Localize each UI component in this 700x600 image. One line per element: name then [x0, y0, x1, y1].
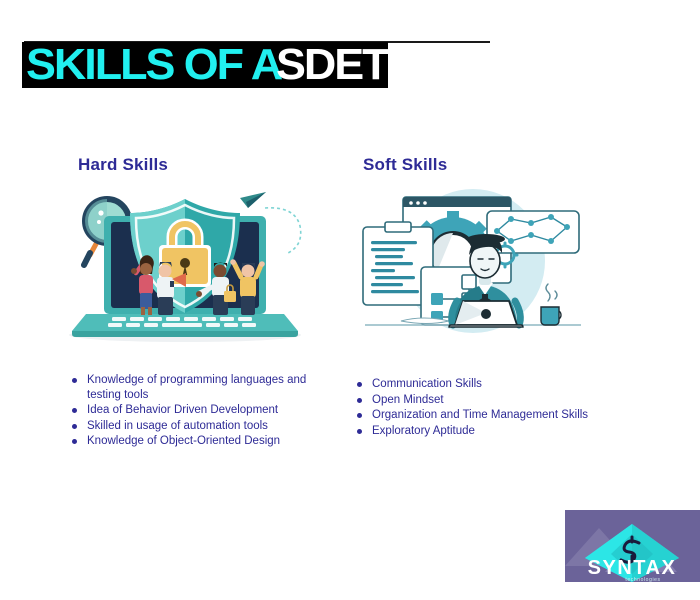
bullet-dot-icon: [357, 429, 362, 434]
list-item: Organization and Time Management Skills: [354, 408, 614, 423]
paper-plane-icon: [240, 192, 266, 208]
list-item: Skilled in usage of automation tools: [69, 419, 329, 434]
list-item-label: Organization and Time Management Skills: [372, 409, 588, 421]
soft-skills-list: Communication Skills Open Mindset Organi…: [354, 377, 614, 439]
list-item: Knowledge of programming languages and t…: [69, 373, 329, 402]
list-item: Knowledge of Object-Oriented Design: [69, 434, 329, 449]
page-title-banner: SKILLS OF A SDET: [22, 42, 388, 88]
laptop-shield-lock-illustration: [60, 183, 310, 343]
list-item-label: Communication Skills: [372, 378, 482, 390]
logo-tagline: technologies: [625, 577, 660, 582]
bullet-dot-icon: [357, 398, 362, 403]
bullet-dot-icon: [357, 413, 362, 418]
coffee-cup-icon: [541, 284, 561, 325]
list-item: Idea of Behavior Driven Development: [69, 403, 329, 418]
list-item-label: Knowledge of programming languages and t…: [87, 374, 306, 401]
logo-wordmark: SYNTAX: [588, 557, 677, 579]
list-item-label: Idea of Behavior Driven Development: [87, 404, 278, 416]
list-item: Communication Skills: [354, 377, 614, 392]
page-title-secondary: SDET: [276, 43, 388, 87]
list-item-label: Knowledge of Object-Oriented Design: [87, 435, 280, 447]
bullet-dot-icon: [357, 382, 362, 387]
bullet-dot-icon: [72, 439, 77, 444]
list-item-label: Open Mindset: [372, 394, 444, 406]
hard-skills-column: Hard Skills: [60, 155, 330, 343]
bullet-dot-icon: [72, 408, 77, 413]
bullet-dot-icon: [72, 424, 77, 429]
hard-skills-list: Knowledge of programming languages and t…: [69, 373, 329, 450]
hard-skills-heading: Hard Skills: [78, 155, 330, 175]
developer-gear-workspace-illustration: [345, 183, 595, 343]
list-item-label: Exploratory Aptitude: [372, 425, 475, 437]
page-title-primary: SKILLS OF A: [26, 43, 281, 87]
laptop-base: [72, 314, 298, 331]
syntax-logo: SYNTAX technologies: [565, 510, 700, 582]
soft-skills-column: Soft Skills: [345, 155, 615, 343]
list-item: Exploratory Aptitude: [354, 424, 614, 439]
soft-skills-heading: Soft Skills: [363, 155, 615, 175]
bullet-dot-icon: [72, 378, 77, 383]
paper-plane-trail: [265, 208, 301, 254]
list-item-label: Skilled in usage of automation tools: [87, 420, 268, 432]
laptop-base-edge: [72, 331, 298, 337]
list-item: Open Mindset: [354, 393, 614, 408]
